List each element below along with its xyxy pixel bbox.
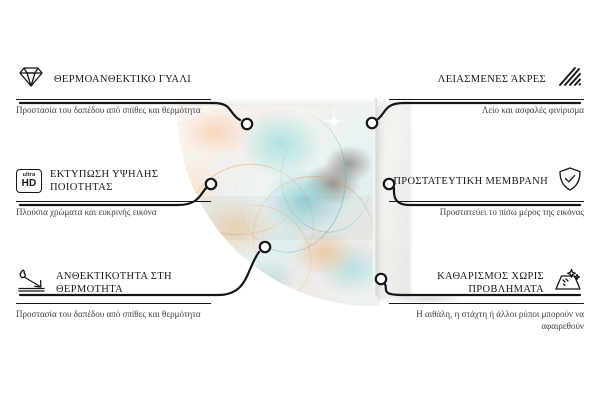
feature-subtitle: Προστασία του δαπέδου από σπίθες και θερ… bbox=[16, 104, 211, 116]
sparkle-mound-icon bbox=[552, 267, 584, 300]
divider bbox=[389, 303, 584, 304]
feature-subtitle: Προστασία του δαπέδου από σπίθες και θερ… bbox=[16, 308, 211, 320]
infographic-stage: ΘΕΡΜΟΑΝΘΕΚΤΙΚΟ ΓΥΑΛΙ Προστασία του δαπέδ… bbox=[0, 0, 600, 400]
divider bbox=[389, 201, 584, 202]
feature-easy-cleaning: ΚΑΘΑΡΙΣΜΟΣ ΧΩΡΙΣ ΠΡΟΒΛΗΜΑΤΑ Η αιθάλη, η … bbox=[389, 266, 584, 332]
feature-title: ΕΚΤΥΠΩΣΗ ΥΨΗΛΗΣ ΠΟΙΟΤΗΤΑΣ bbox=[50, 168, 211, 194]
feature-subtitle: Λείο και ασφαλές φινίρισμα bbox=[389, 104, 584, 116]
feature-subtitle: Η αιθάλη, η στάχτη ή άλλοι ρύποι μπορούν… bbox=[389, 308, 584, 332]
ultra-hd-icon: ultra HD bbox=[16, 169, 42, 193]
striped-triangle-icon bbox=[554, 64, 584, 95]
feature-protective-membrane: ΠΡΟΣΤΑΤΕΥΤΙΚΗ ΜΕΜΒΡΑΝΗ Προστατεύει το πί… bbox=[389, 164, 584, 218]
feature-subtitle: Προστατεύει το πίσω μέρος της εικόνας bbox=[389, 206, 584, 218]
divider bbox=[16, 99, 211, 100]
shield-check-icon bbox=[556, 165, 584, 198]
connector-dot-top-left bbox=[242, 119, 252, 129]
ultra-hd-large-label: HD bbox=[22, 179, 37, 189]
feature-heat-resistant-glass: ΘΕΡΜΟΑΝΘΕΚΤΙΚΟ ΓΥΑΛΙ Προστασία του δαπέδ… bbox=[16, 62, 211, 116]
feature-title: ΛΕΙΑΣΜΕΝΕΣ ΆΚΡΕΣ bbox=[438, 73, 546, 86]
connector-dot-bottom-right bbox=[376, 274, 386, 284]
connector-dot-bottom-left bbox=[260, 242, 270, 252]
feature-title: ΠΡΟΣΤΑΤΕΥΤΙΚΗ ΜΕΜΒΡΑΝΗ bbox=[393, 175, 548, 188]
feature-subtitle: Πλούσια χρώματα και ευκρινής εικόνα bbox=[16, 206, 211, 218]
divider bbox=[16, 201, 211, 202]
feature-title: ΘΕΡΜΟΑΝΘΕΚΤΙΚΟ ΓΥΑΛΙ bbox=[54, 73, 191, 86]
feature-high-quality-print: ultra HD ΕΚΤΥΠΩΣΗ ΥΨΗΛΗΣ ΠΟΙΟΤΗΤΑΣ Πλούσ… bbox=[16, 164, 211, 218]
divider bbox=[389, 99, 584, 100]
flame-deflect-icon bbox=[16, 267, 48, 300]
feature-title: ΑΝΘΕΚΤΙΚΟΤΗΤΑ ΣΤΗ ΘΕΡΜΟΤΗΤΑ bbox=[56, 270, 211, 296]
feature-smoothed-edges: ΛΕΙΑΣΜΕΝΕΣ ΆΚΡΕΣ Λείο και ασφαλές φινίρι… bbox=[389, 62, 584, 116]
connector-dot-top-right bbox=[367, 118, 377, 128]
feature-title: ΚΑΘΑΡΙΣΜΟΣ ΧΩΡΙΣ ΠΡΟΒΛΗΜΑΤΑ bbox=[389, 270, 544, 296]
divider bbox=[16, 303, 211, 304]
feature-heat-durability: ΑΝΘΕΚΤΙΚΟΤΗΤΑ ΣΤΗ ΘΕΡΜΟΤΗΤΑ Προστασία το… bbox=[16, 266, 211, 320]
diamond-icon bbox=[16, 64, 46, 95]
